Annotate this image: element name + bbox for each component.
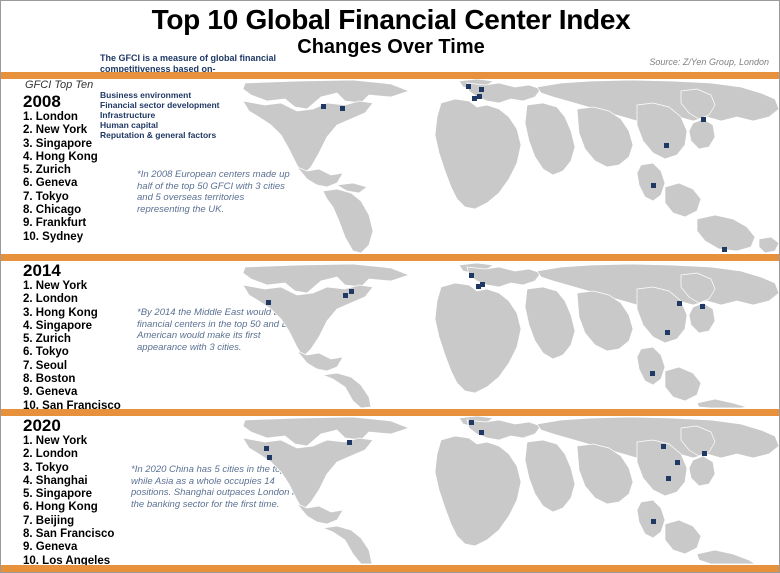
marker-singapore: [651, 519, 656, 524]
list-item: 9. Frankfurt: [19, 217, 144, 230]
list-item: 1. New York: [19, 435, 144, 448]
list-item: 3. Tokyo: [19, 462, 144, 475]
list-item: 9. Geneva: [19, 541, 144, 554]
marker-los-angeles: [267, 455, 272, 460]
marker-chicago: [321, 104, 326, 109]
list-item: 8. Chicago: [19, 204, 144, 217]
list-item: 6. Hong Kong: [19, 501, 144, 514]
list-item: 7. Beijing: [19, 515, 144, 528]
marker-shanghai: [675, 460, 680, 465]
world-map-2008: [241, 79, 780, 254]
list-item: 10. Sydney: [19, 231, 144, 244]
year-label-2008: 2008: [19, 92, 144, 111]
gfci-top-ten-label: GFCI Top Ten: [19, 79, 144, 91]
marker-seoul: [677, 301, 682, 306]
marker-new-york: [340, 106, 345, 111]
list-item: 4. Singapore: [19, 320, 144, 333]
divider-bar-2014-2020: [1, 409, 780, 416]
marker-new-york: [343, 293, 348, 298]
list-item: 5. Zurich: [19, 164, 144, 177]
marker-geneva: [472, 96, 477, 101]
city-list-2014: 1. New York 2. London 3. Hong Kong 4. Si…: [19, 280, 144, 413]
rank-block-2020: 2020 1. New York 2. London 3. Tokyo 4. S…: [19, 416, 144, 568]
list-item: 1. New York: [19, 280, 144, 293]
marker-singapore: [650, 371, 655, 376]
marker-san-francisco: [264, 446, 269, 451]
marker-london: [469, 420, 474, 425]
marker-tokyo: [701, 117, 706, 122]
list-item: 1. London: [19, 111, 144, 124]
list-item: 3. Hong Kong: [19, 307, 144, 320]
city-list-2008: 1. London 2. New York 3. Singapore 4. Ho…: [19, 111, 144, 244]
marker-london: [469, 273, 474, 278]
divider-bar-2008-2014: [1, 254, 780, 261]
marker-frankfurt: [479, 87, 484, 92]
marker-geneva: [476, 284, 481, 289]
marker-zurich: [477, 94, 482, 99]
panel-2008: GFCI Top Ten 2008 1. London 2. New York …: [1, 79, 780, 254]
marker-beijing: [661, 444, 666, 449]
world-map-2014: [241, 261, 780, 409]
list-item: 5. Singapore: [19, 488, 144, 501]
world-map-2020: [241, 416, 780, 565]
list-item: 5. Zurich: [19, 333, 144, 346]
header: Top 10 Global Financial Center Index Cha…: [1, 1, 780, 73]
marker-hong-kong: [665, 330, 670, 335]
map-svg: [241, 261, 780, 409]
city-list-2020: 1. New York 2. London 3. Tokyo 4. Shangh…: [19, 435, 144, 568]
list-item: 4. Hong Kong: [19, 151, 144, 164]
map-landmasses: [243, 263, 779, 408]
source-attribution: Source: Z/Yen Group, London: [649, 57, 769, 67]
marker-london: [466, 84, 471, 89]
list-item: 8. San Francisco: [19, 528, 144, 541]
rank-block-2008: GFCI Top Ten 2008 1. London 2. New York …: [19, 79, 144, 244]
marker-singapore: [651, 183, 656, 188]
year-label-2020: 2020: [19, 416, 144, 435]
list-item: 2. London: [19, 448, 144, 461]
map-svg: [241, 416, 780, 565]
marker-hong-kong: [666, 476, 671, 481]
marker-tokyo: [702, 451, 707, 456]
page-title: Top 10 Global Financial Center Index: [1, 4, 780, 36]
marker-hong-kong: [664, 143, 669, 148]
infographic-root: Top 10 Global Financial Center Index Cha…: [0, 0, 780, 573]
marker-new-york: [347, 440, 352, 445]
list-item: 7. Tokyo: [19, 191, 144, 204]
marker-san-francisco: [266, 300, 271, 305]
gfci-description: The GFCI is a measure of global financia…: [100, 53, 315, 74]
divider-bar-bottom: [1, 565, 780, 572]
marker-geneva: [479, 430, 484, 435]
divider-bar-top: [1, 72, 780, 79]
year-label-2014: 2014: [19, 261, 144, 280]
list-item: 6. Geneva: [19, 177, 144, 190]
marker-tokyo: [700, 304, 705, 309]
panel-2020: 2020 1. New York 2. London 3. Tokyo 4. S…: [1, 416, 780, 565]
rank-block-2014: 2014 1. New York 2. London 3. Hong Kong …: [19, 261, 144, 413]
panel-2014: 2014 1. New York 2. London 3. Hong Kong …: [1, 261, 780, 409]
map-svg: [241, 79, 780, 254]
list-item: 3. Singapore: [19, 138, 144, 151]
map-landmasses: [243, 416, 779, 564]
list-item: 9. Geneva: [19, 386, 144, 399]
list-item: 8. Boston: [19, 373, 144, 386]
list-item: 2. London: [19, 293, 144, 306]
list-item: 7. Seoul: [19, 360, 144, 373]
list-item: 6. Tokyo: [19, 346, 144, 359]
list-item: 4. Shanghai: [19, 475, 144, 488]
marker-sydney: [722, 247, 727, 252]
list-item: 2. New York: [19, 124, 144, 137]
marker-boston: [349, 289, 354, 294]
